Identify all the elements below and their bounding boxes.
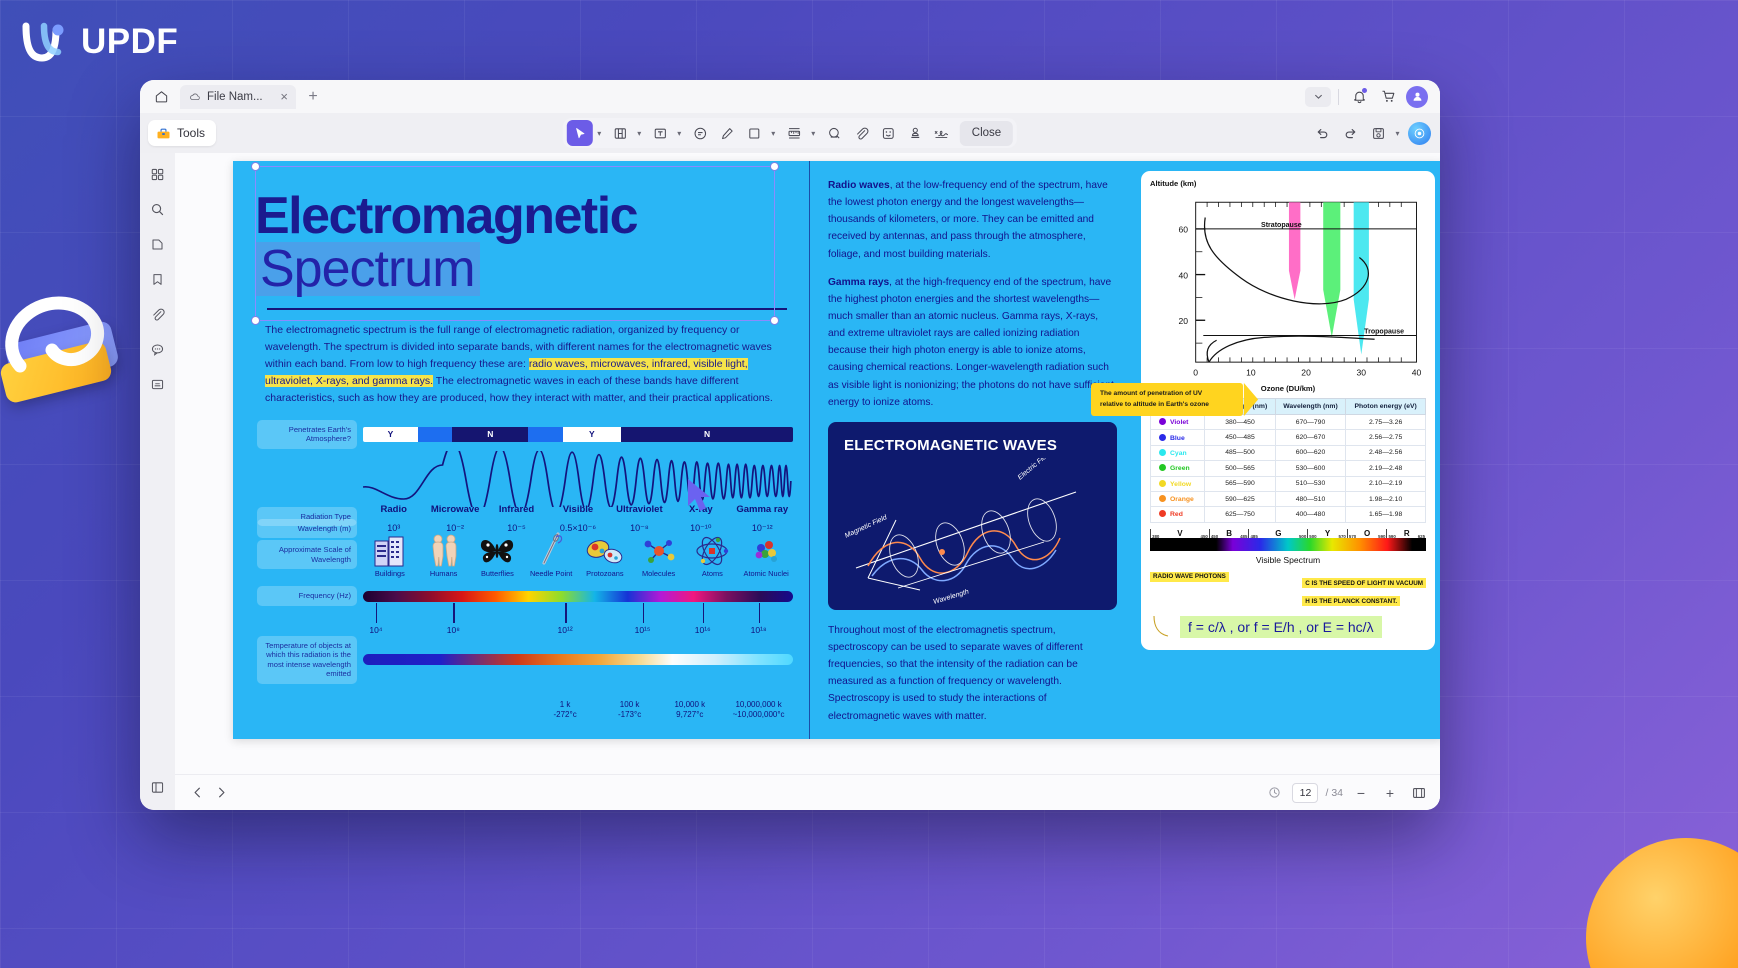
penetration-segment-3 xyxy=(528,427,562,442)
xtick-20: 20 xyxy=(1301,367,1311,377)
frequency-tick-label: 10¹⁶ xyxy=(695,625,711,635)
spectrum-letter-B: B450485 xyxy=(1209,529,1249,538)
spectrum-color-bar xyxy=(1150,538,1426,551)
pdf-page[interactable]: Electromagnetic Spectrum The electromagn… xyxy=(233,161,1440,739)
row-frequency: Frequency (Hz) xyxy=(257,586,793,605)
app-window: File Nam... × + xyxy=(140,80,1440,810)
comment-tool[interactable] xyxy=(687,120,713,146)
annotation-tropopause: Tropopause xyxy=(1364,329,1404,336)
spectrum-letter-V: V380450 xyxy=(1150,529,1209,538)
spectrum-letter-R: R590625 xyxy=(1386,529,1426,538)
temperature-gradient-bar xyxy=(363,654,793,665)
frequency-tick xyxy=(376,603,378,623)
table-column-header: Wavelength (nm) xyxy=(1275,399,1346,415)
table-row: Blue450—485620—6702.56—2.75 xyxy=(1151,430,1426,445)
xtick-10: 10 xyxy=(1246,367,1256,377)
ai-orb-icon xyxy=(1408,122,1431,145)
temperature-tick-label: 10,000,000 k~10,000,000°c xyxy=(733,700,785,721)
close-button[interactable]: Close xyxy=(960,121,1013,146)
chevron-down-icon[interactable]: ▾ xyxy=(767,122,780,144)
penetration-segment-5: N xyxy=(621,427,793,442)
highlight-tool[interactable] xyxy=(607,120,633,146)
callout-pointer xyxy=(1242,383,1260,416)
ytick-60: 60 xyxy=(1179,225,1189,235)
toolbox-icon xyxy=(156,126,171,141)
frequency-tick xyxy=(453,603,455,623)
sidebar-search[interactable] xyxy=(145,196,171,222)
radio-paragraph: Radio waves, at the low-frequency end of… xyxy=(828,177,1117,263)
toolbar-right-group: ▾ xyxy=(1309,120,1432,146)
home-icon[interactable] xyxy=(148,84,174,110)
uvc-band xyxy=(1289,202,1300,299)
radiation-type-cell: Gamma ray xyxy=(732,504,793,515)
ytick-20: 20 xyxy=(1179,316,1189,326)
temperature-tick-label: 1 k-272°c xyxy=(553,700,576,721)
footer-right-group: 12 / 34 − + xyxy=(1263,782,1430,804)
updf-logo-icon xyxy=(18,16,70,68)
label-wavelength: Wavelength xyxy=(933,588,970,605)
select-tool[interactable] xyxy=(567,120,593,146)
radiation-type-cell: Radio xyxy=(363,504,424,515)
curly-arrow-icon xyxy=(1150,614,1176,640)
brand-name: UPDF xyxy=(81,22,178,62)
sidebar-toggle[interactable] xyxy=(145,774,171,800)
note-radio-wave-photons: RADIO WAVE PHOTONS xyxy=(1150,572,1229,582)
sidebar-thumbnails[interactable] xyxy=(145,161,171,187)
page-wrapper: Electromagnetic Spectrum The electromagn… xyxy=(175,153,1440,774)
row-temperature: Temperature of objects at which this rad… xyxy=(257,636,793,684)
frequency-ticks: 10⁴10⁸10¹²10¹⁵10¹⁶10¹⁸ xyxy=(363,608,793,634)
scale-cells: BuildingsHumansButterfliesNeedle PointPr… xyxy=(363,525,793,578)
row-penetration: Penetrates Earth's Atmosphere? YNYN xyxy=(257,420,793,449)
table-row: Violet380—450670—7902.75—3.26 xyxy=(1151,415,1426,430)
xtick-0: 0 xyxy=(1193,367,1198,377)
resize-handle-tr[interactable] xyxy=(770,162,779,171)
next-page-button[interactable] xyxy=(209,781,233,805)
redo-button[interactable] xyxy=(1337,120,1363,146)
frequency-tick-label: 10¹⁸ xyxy=(751,625,767,635)
chevron-down-icon[interactable]: ▾ xyxy=(1391,122,1404,144)
sidebar-signature[interactable] xyxy=(145,371,171,397)
sidebar-pages[interactable] xyxy=(145,231,171,257)
frequency-gradient-bar xyxy=(363,591,793,602)
radiation-type-cell: Microwave xyxy=(424,504,485,515)
temperature-tick-label: 10,000 k9,727°c xyxy=(674,700,705,721)
frequency-tick-label: 10⁸ xyxy=(447,625,460,635)
row-label-penetration: Penetrates Earth's Atmosphere? xyxy=(257,420,357,449)
chevron-down-icon[interactable]: ▾ xyxy=(633,122,646,144)
resize-handle-bl[interactable] xyxy=(251,316,260,325)
avatar[interactable] xyxy=(1404,84,1430,110)
em-waves-card: ELECTROMAGNETIC WAVES xyxy=(828,422,1117,610)
uvb-band xyxy=(1323,202,1340,337)
title-bar: File Nam... × + xyxy=(140,80,1440,113)
em-card-title: ELECTROMAGNETIC WAVES xyxy=(844,437,1101,456)
scale-cell: Atoms xyxy=(686,525,740,578)
measure-tool[interactable] xyxy=(781,120,807,146)
row-label-scale: Approximate Scale of Wavelength xyxy=(257,540,357,569)
table-row: Yellow565—590510—5302.10—2.19 xyxy=(1151,476,1426,491)
frequency-tick-label: 10¹⁵ xyxy=(635,625,651,635)
frequency-tick xyxy=(759,603,761,623)
photon-energy-formula: f = c/λ , or f = E/h , or E = hc/λ xyxy=(1180,616,1382,638)
close-icon[interactable]: × xyxy=(280,90,288,103)
label-magnetic-field: Magnetic Field xyxy=(844,514,889,540)
row-label-wavelength: Wavelength (m) xyxy=(257,519,357,538)
spectrum-letter-O: O570590 xyxy=(1347,529,1387,538)
row-label-temperature: Temperature of objects at which this rad… xyxy=(257,636,357,684)
stamp-round-tool[interactable] xyxy=(821,120,847,146)
zoom-out-button[interactable]: − xyxy=(1350,782,1372,804)
cloud-icon xyxy=(189,91,201,103)
chevron-down-icon[interactable]: ▾ xyxy=(673,122,686,144)
wave-graphic xyxy=(363,451,793,507)
note-speed-of-light: C IS THE SPEED OF LIGHT IN VACUUM xyxy=(1302,578,1426,588)
sidebar-comments[interactable] xyxy=(145,336,171,362)
annotation-stratopause: Stratopause xyxy=(1261,222,1302,229)
gamma-paragraph: Gamma rays, at the high-frequency end of… xyxy=(828,274,1117,411)
resize-handle-br[interactable] xyxy=(770,316,779,325)
chevron-down-icon[interactable] xyxy=(1305,87,1331,107)
sticky-note-callout[interactable]: The amount of penetration of UV relative… xyxy=(1091,383,1243,416)
doc-left-column: Electromagnetic Spectrum The electromagn… xyxy=(233,161,809,739)
xtick-40: 40 xyxy=(1412,367,1422,377)
radio-heading: Radio waves xyxy=(828,180,890,191)
gamma-heading: Gamma rays xyxy=(828,277,889,288)
cart-icon[interactable] xyxy=(1375,84,1401,110)
paperclip-icon xyxy=(0,270,140,410)
spectrum-letter-Y: Y500570 xyxy=(1307,529,1347,538)
spectrum-infographic: Penetrates Earth's Atmosphere? YNYN Radi… xyxy=(257,420,793,716)
table-row: Red625—750400—4801.65—1.98 xyxy=(1151,507,1426,522)
frequency-tick xyxy=(703,603,705,623)
penetration-bar: YNYN xyxy=(363,427,793,442)
page-number-input[interactable]: 12 xyxy=(1292,783,1318,803)
tools-button[interactable]: Tools xyxy=(148,120,216,146)
text-tool[interactable] xyxy=(647,120,673,146)
left-sidebar xyxy=(140,153,175,810)
penetration-segment-0: Y xyxy=(363,427,418,442)
divider xyxy=(1338,89,1339,105)
penetration-segment-2: N xyxy=(452,427,528,442)
callout-text: The amount of penetration of UV relative… xyxy=(1100,389,1221,410)
scale-cell: Buildings xyxy=(363,525,417,578)
table-row: Green500—565530—6002.19—2.48 xyxy=(1151,461,1426,476)
table-row: Cyan485—500600—6202.48—2.56 xyxy=(1151,445,1426,460)
radiation-type-cell: Ultraviolet xyxy=(609,504,670,515)
intro-paragraph: The electromagnetic spectrum is the full… xyxy=(265,322,791,407)
page-total-label: / 34 xyxy=(1325,787,1343,799)
shape-tool[interactable] xyxy=(741,120,767,146)
sticker-tool[interactable] xyxy=(875,120,901,146)
frequency-tick xyxy=(565,603,567,623)
chart-ylabel: Altitude (km) xyxy=(1150,179,1426,188)
avatar-icon xyxy=(1406,86,1428,108)
spectroscopy-paragraph: Throughout most of the electromagnetis s… xyxy=(828,622,1117,725)
doc-infographic-column: Altitude (km) xyxy=(1133,161,1440,739)
spectrum-letter-G: G485500 xyxy=(1248,529,1307,538)
frequency-tick xyxy=(643,603,645,623)
history-icon[interactable] xyxy=(1263,782,1285,804)
sidebar-attachments[interactable] xyxy=(145,301,171,327)
zoom-in-button[interactable]: + xyxy=(1379,782,1401,804)
notification-badge xyxy=(1362,88,1367,93)
radiation-type-cell: Visible xyxy=(547,504,608,515)
bell-icon[interactable] xyxy=(1346,84,1372,110)
scale-cell: Protozoans xyxy=(578,525,632,578)
ai-assistant-button[interactable] xyxy=(1406,120,1432,146)
scale-cell: Humans xyxy=(417,525,471,578)
table-row: Orange590—625480—5101.98—2.10 xyxy=(1151,491,1426,506)
main-toolbar: Tools ▾ ▾ ▾ xyxy=(140,113,1440,153)
row-label-frequency: Frequency (Hz) xyxy=(257,586,357,605)
spectrum-caption: Visible Spectrum xyxy=(1150,555,1426,565)
scale-cell: Molecules xyxy=(632,525,686,578)
resize-handle-tl[interactable] xyxy=(251,162,260,171)
radiation-type-cells: RadioMicrowaveInfraredVisibleUltraviolet… xyxy=(363,504,793,515)
temperature-tick-label: 100 k-173°c xyxy=(618,700,641,721)
frequency-tick-label: 10¹² xyxy=(558,625,573,635)
titlebar-right-group xyxy=(1305,84,1432,110)
tools-label: Tools xyxy=(177,126,205,140)
chevron-down-icon[interactable]: ▾ xyxy=(593,122,606,144)
visible-spectrum-strip: V380450B450485G485500Y500570O570590R5906… xyxy=(1150,529,1426,551)
frequency-tick-label: 10⁴ xyxy=(369,625,382,635)
radio-body: , at the low-frequency end of the spectr… xyxy=(828,180,1108,260)
em-wave-diagram: Wavelength Electric Field Magnetic Field xyxy=(838,458,1100,608)
gamma-body: , at the high-frequency end of the spect… xyxy=(828,277,1114,408)
annotation-tool-cluster: ▾ ▾ ▾ xyxy=(563,118,1017,148)
document-tab[interactable]: File Nam... × xyxy=(180,85,296,109)
pencil-tool[interactable] xyxy=(714,120,740,146)
label-electric-field: Electric Field xyxy=(1017,458,1053,482)
undo-button[interactable] xyxy=(1309,120,1335,146)
attachment-tool[interactable] xyxy=(848,120,874,146)
penetration-segment-4: Y xyxy=(563,427,621,442)
penetration-segment-1 xyxy=(418,427,452,442)
scale-cell: Butterflies xyxy=(471,525,525,578)
title-selection-box[interactable] xyxy=(255,166,775,321)
stamp-tool[interactable] xyxy=(902,120,928,146)
radiation-type-cell: Infrared xyxy=(486,504,547,515)
temperature-ticks: 1 k-272°c100 k-173°c10,000 k9,727°c10,00… xyxy=(363,686,793,716)
ytick-40: 40 xyxy=(1179,270,1189,280)
spectrum-letters: V380450B450485G485500Y500570O570590R5906… xyxy=(1150,529,1426,538)
chevron-down-icon[interactable]: ▾ xyxy=(807,122,820,144)
doc-right-column: Radio waves, at the low-frequency end of… xyxy=(809,161,1133,739)
note-planck-constant: H IS THE PLANCK CONSTANT. xyxy=(1302,596,1400,606)
table-column-header: Photon energy (eV) xyxy=(1346,399,1426,415)
tab-label: File Nam... xyxy=(207,91,263,103)
plus-icon[interactable]: + xyxy=(302,86,324,108)
visible-spectrum-table: ColorWavelength (nm)Wavelength (nm)Photo… xyxy=(1150,398,1426,523)
brand: UPDF xyxy=(18,16,178,68)
xtick-30: 30 xyxy=(1357,367,1367,377)
sidebar-bookmarks[interactable] xyxy=(145,266,171,292)
scale-cell: Needle Point xyxy=(524,525,578,578)
prev-page-button[interactable] xyxy=(185,781,209,805)
ozone-altitude-chart: 60 40 20 Stratopause xyxy=(1150,190,1426,382)
save-button[interactable] xyxy=(1365,120,1391,146)
app-body: Electromagnetic Spectrum The electromagn… xyxy=(140,153,1440,810)
signature-tool[interactable] xyxy=(929,120,955,146)
scale-cell: Atomic Nuclei xyxy=(739,525,793,578)
document-viewer[interactable]: Electromagnetic Spectrum The electromagn… xyxy=(175,153,1440,810)
viewer-footer: 12 / 34 − + xyxy=(175,774,1440,810)
fit-page-button[interactable] xyxy=(1408,782,1430,804)
